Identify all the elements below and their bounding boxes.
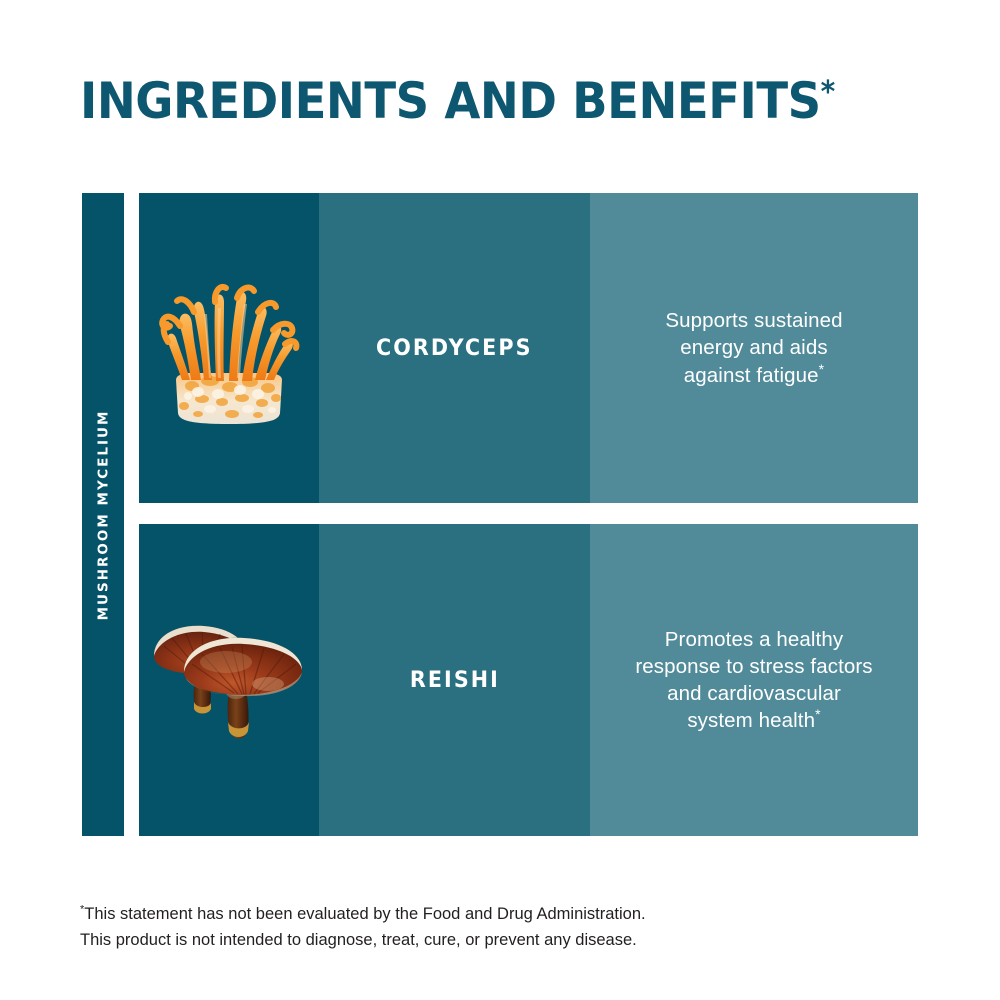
benefit-line: against fatigue (684, 364, 819, 387)
page-title-footnote-marker: * (821, 75, 835, 110)
benefit-footnote-marker: * (815, 706, 821, 722)
benefit-line: response to stress factors (635, 655, 872, 678)
ingredient-name: REISHI (409, 668, 499, 693)
category-rail: MUSHROOM MYCELIUM (82, 193, 124, 836)
ingredient-benefit-cell: Supports sustainedenergy and aidsagainst… (590, 193, 918, 503)
disclaimer-line-1-text: This statement has not been evaluated by… (84, 905, 645, 923)
benefit-line: and cardiovascular (667, 682, 841, 705)
cordyceps-mushroom-icon (158, 268, 300, 428)
category-rail-label: MUSHROOM MYCELIUM (95, 409, 111, 620)
benefit-line: system health (687, 709, 815, 732)
benefit-line: Promotes a healthy (665, 628, 843, 651)
disclaimer-line-1: *This statement has not been evaluated b… (80, 902, 780, 928)
benefit-line: energy and aids (680, 336, 827, 359)
ingredients-benefits-page: INGREDIENTS AND BENEFITS* MUSHROOM MYCEL… (0, 0, 1000, 1000)
page-title: INGREDIENTS AND BENEFITS* (80, 76, 835, 126)
ingredient-name-cell: REISHI (319, 524, 590, 836)
disclaimer-line-2: This product is not intended to diagnose… (80, 928, 780, 954)
ingredient-name-cell: CORDYCEPS (319, 193, 590, 503)
ingredient-benefit-cell: Promotes a healthyresponse to stress fac… (590, 524, 918, 836)
table-row: CORDYCEPS Supports sustainedenergy and a… (139, 193, 918, 503)
reishi-mushroom-icon (150, 610, 308, 750)
ingredient-image-cell (139, 524, 319, 836)
benefit-line: Supports sustained (665, 309, 842, 332)
ingredient-name: CORDYCEPS (376, 336, 533, 361)
page-title-text: INGREDIENTS AND BENEFITS (80, 72, 821, 130)
ingredient-benefit: Promotes a healthyresponse to stress fac… (635, 626, 872, 735)
ingredients-table: CORDYCEPS Supports sustainedenergy and a… (139, 193, 918, 836)
ingredient-image-cell (139, 193, 319, 503)
benefit-footnote-marker: * (819, 361, 825, 377)
table-row: REISHI Promotes a healthyresponse to str… (139, 524, 918, 836)
disclaimer: *This statement has not been evaluated b… (80, 902, 780, 953)
ingredient-benefit: Supports sustainedenergy and aidsagainst… (665, 307, 842, 389)
